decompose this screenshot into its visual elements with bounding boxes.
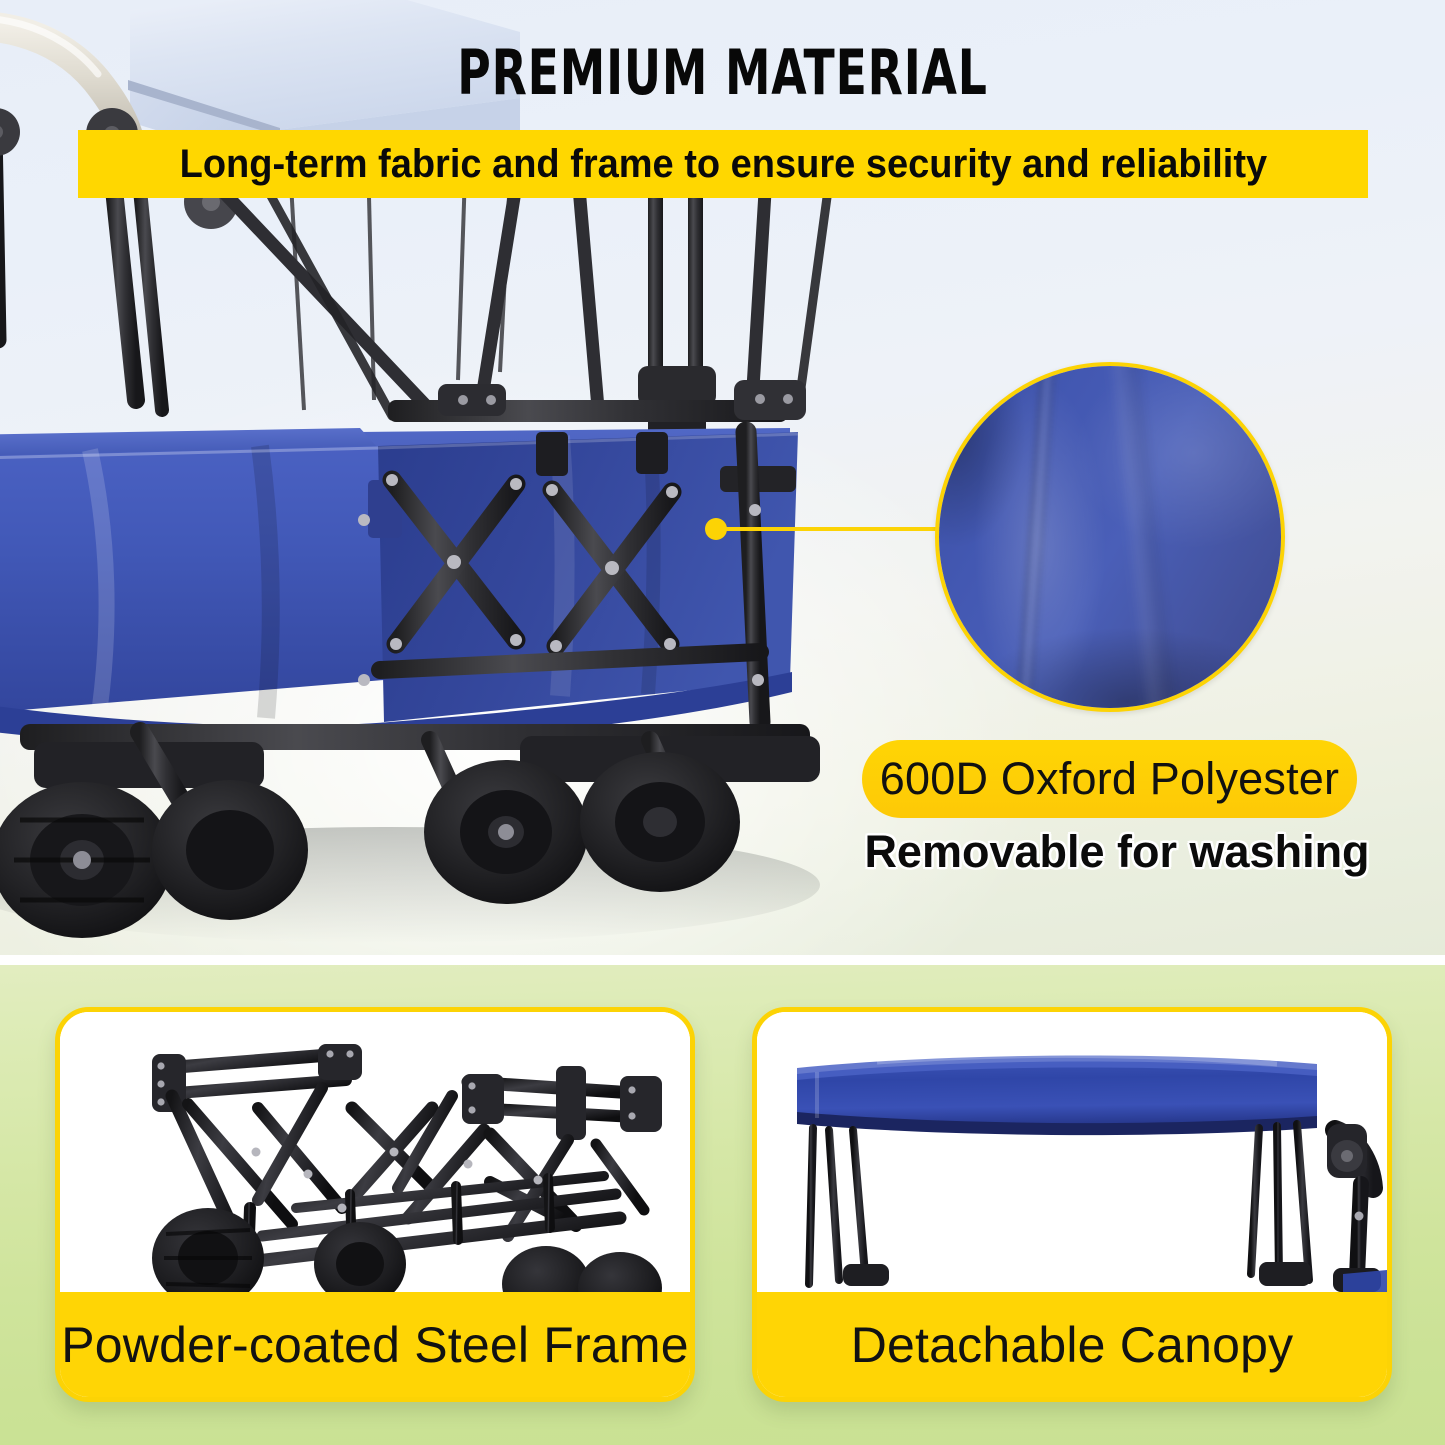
washing-note: Removable for washing <box>862 826 1372 878</box>
feature-card-canopy: Detachable Canopy <box>752 1007 1392 1402</box>
canopy-fabric <box>797 1055 1317 1135</box>
fabric-swatch <box>935 362 1285 712</box>
features-panel: Powder-coated Steel Frame <box>0 965 1445 1445</box>
feature-card-steel-frame: Powder-coated Steel Frame <box>55 1007 695 1402</box>
subtitle-text: Long-term fabric and frame to ensure sec… <box>179 142 1266 187</box>
card-label-steel-frame: Powder-coated Steel Frame <box>60 1292 690 1397</box>
fabric-closeup-circle <box>935 362 1285 712</box>
subtitle-banner: Long-term fabric and frame to ensure sec… <box>78 130 1368 198</box>
card-label-text: Powder-coated Steel Frame <box>61 1316 689 1374</box>
fabric-spec-pill: 600D Oxford Polyester <box>862 740 1357 818</box>
card-label-canopy: Detachable Canopy <box>757 1292 1387 1397</box>
card-label-text: Detachable Canopy <box>851 1316 1294 1374</box>
fabric-spec-label: 600D Oxford Polyester <box>880 753 1339 805</box>
premium-material-panel: PREMIUM MATERIAL Long-term fabric and fr… <box>0 0 1445 955</box>
canopy-photo <box>757 1012 1387 1302</box>
callout-pointer-line <box>712 527 944 531</box>
page-title: PREMIUM MATERIAL <box>130 36 1315 109</box>
steel-frame-photo <box>60 1012 690 1302</box>
